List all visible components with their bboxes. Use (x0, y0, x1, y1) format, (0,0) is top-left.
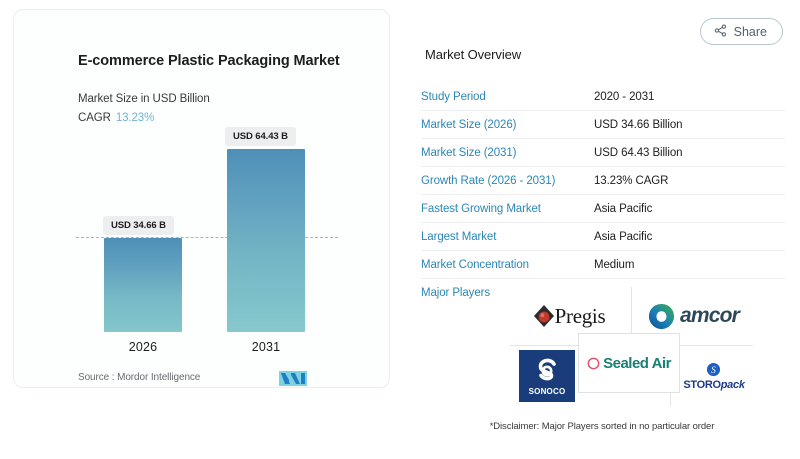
table-row: Fastest Growing Market Asia Pacific (421, 194, 785, 222)
bar-label-2026: USD 34.66 B (103, 216, 174, 235)
amcor-swirl-icon (648, 303, 675, 330)
bar-label-2031: USD 64.43 B (225, 127, 296, 146)
row-value: Medium (594, 259, 634, 271)
logo-storopack[interactable]: S STOROpack (675, 347, 753, 405)
table-row: Largest Market Asia Pacific (421, 222, 785, 250)
row-key: Market Size (2026) (421, 119, 594, 131)
pregis-wordmark: Pregis (555, 304, 606, 329)
x-tick-2031: 2031 (227, 340, 305, 354)
table-row: Market Size (2031) USD 64.43 Billion (421, 138, 785, 166)
row-value: 2020 - 2031 (594, 91, 654, 103)
sonoco-s-icon (532, 356, 562, 386)
table-row: Study Period 2020 - 2031 (421, 83, 785, 110)
market-overview-title: Market Overview (425, 47, 521, 62)
row-value: 13.23% CAGR (594, 175, 668, 187)
bar-2026[interactable] (104, 238, 182, 332)
share-button[interactable]: Share (700, 18, 783, 45)
bar-chart-plot: USD 34.66 B USD 64.43 B 2026 2031 (14, 10, 391, 389)
storopack-s-badge-icon: S (706, 362, 721, 377)
row-key: Growth Rate (2026 - 2031) (421, 175, 594, 187)
table-row: Market Size (2026) USD 34.66 Billion (421, 110, 785, 138)
market-overview-page: E-commerce Plastic Packaging Market Mark… (0, 0, 800, 459)
row-value: USD 64.43 Billion (594, 147, 682, 159)
major-players-label: Major Players (421, 287, 490, 299)
row-value: Asia Pacific (594, 231, 652, 243)
row-key: Market Concentration (421, 259, 594, 271)
sealed-air-circle-icon (587, 357, 600, 370)
market-overview-table: Study Period 2020 - 2031 Market Size (20… (421, 83, 785, 307)
mordor-intelligence-logo (279, 371, 307, 386)
sonoco-badge: SONOCO (519, 350, 575, 402)
share-button-label: Share (734, 25, 767, 39)
share-nodes-icon (714, 24, 727, 40)
logo-sonoco[interactable]: SONOCO (516, 347, 578, 405)
chart-source: Source : Mordor Intelligence (78, 372, 200, 383)
row-key: Largest Market (421, 231, 594, 243)
storopack-wordmark: STOROpack (683, 379, 744, 391)
row-key: Study Period (421, 91, 594, 103)
pregis-diamond-icon (533, 304, 555, 328)
table-row: Growth Rate (2026 - 2031) 13.23% CAGR (421, 166, 785, 194)
row-value: Asia Pacific (594, 203, 652, 215)
amcor-wordmark: amcor (680, 304, 739, 328)
logo-sealed-air[interactable]: Sealed Air (578, 333, 680, 393)
sealed-air-wordmark: Sealed Air (603, 355, 671, 372)
svg-text:S: S (712, 365, 717, 375)
table-row: Market Concentration Medium (421, 250, 785, 278)
row-value: USD 34.66 Billion (594, 119, 682, 131)
sonoco-wordmark: SONOCO (529, 387, 566, 396)
x-tick-2026: 2026 (104, 340, 182, 354)
bar-2031[interactable] (227, 149, 305, 332)
players-disclaimer: *Disclaimer: Major Players sorted in no … (422, 421, 782, 432)
row-key: Market Size (2031) (421, 147, 594, 159)
major-players-logo-grid: Pregis amcor (510, 287, 753, 406)
storopack-stack: S STOROpack (683, 362, 744, 391)
row-key: Fastest Growing Market (421, 203, 594, 215)
chart-card: E-commerce Plastic Packaging Market Mark… (13, 9, 390, 388)
